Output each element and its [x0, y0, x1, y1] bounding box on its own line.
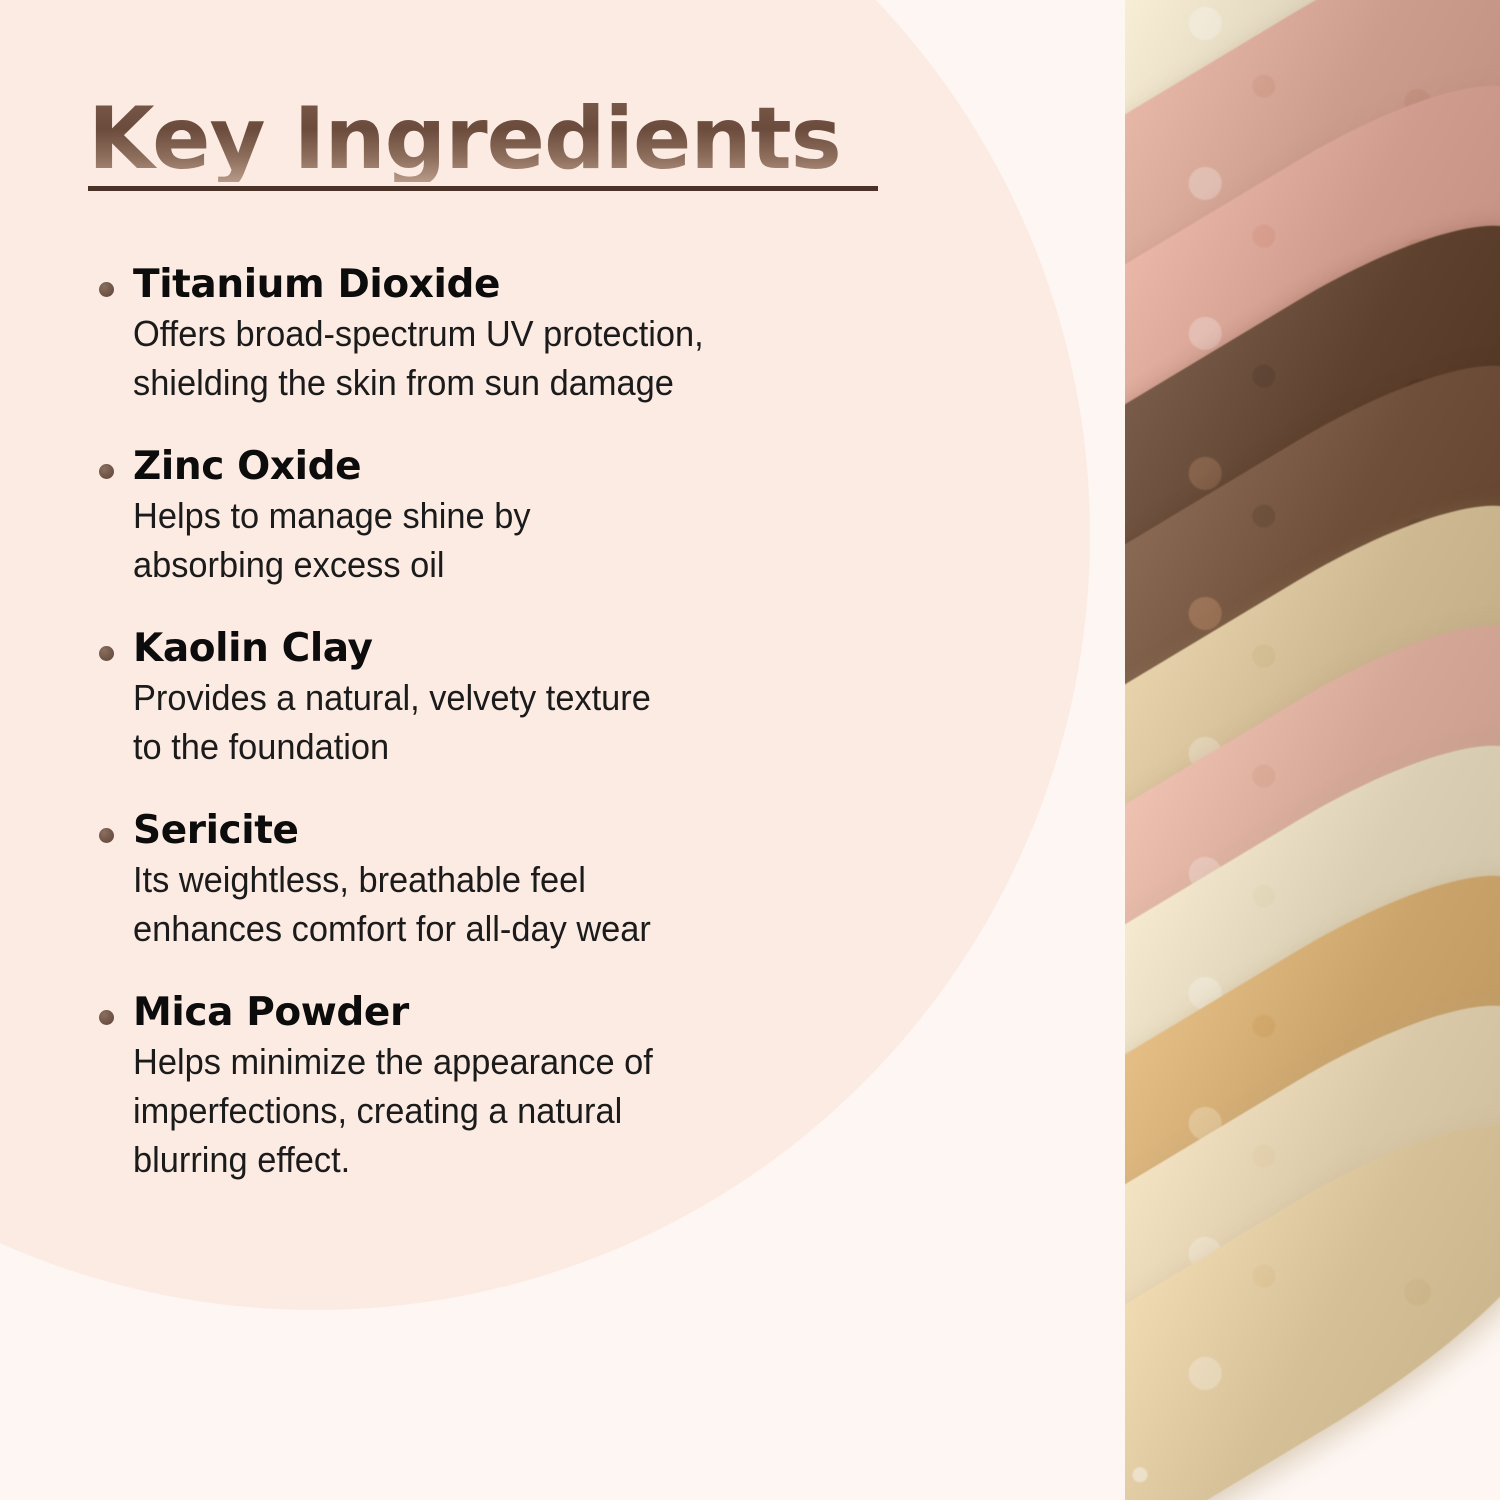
bullet-dot-icon — [99, 464, 114, 479]
ingredient-list: Titanium Dioxide Offers broad-spectrum U… — [88, 262, 968, 1185]
list-item: Zinc Oxide Helps to manage shine by abso… — [88, 444, 968, 590]
bullet-dot-icon — [99, 828, 114, 843]
ingredient-description: Helps minimize the appearance of imperfe… — [133, 1038, 930, 1185]
bullet-dot-icon — [99, 646, 114, 661]
list-item: Kaolin Clay Provides a natural, velvety … — [88, 626, 968, 772]
list-item: Sericite Its weightless, breathable feel… — [88, 808, 968, 954]
bullet-dot-icon — [99, 282, 114, 297]
page-title: Key Ingredients — [88, 96, 841, 182]
ingredient-name: Sericite — [133, 808, 968, 854]
ingredient-description: Offers broad-spectrum UV protection, shi… — [133, 310, 930, 408]
title-underline — [88, 186, 878, 191]
ingredient-name: Mica Powder — [133, 990, 968, 1036]
ingredient-description: Provides a natural, velvety texture to t… — [133, 674, 930, 772]
ingredient-description: Helps to manage shine by absorbing exces… — [133, 492, 930, 590]
ingredient-name: Titanium Dioxide — [133, 262, 968, 308]
ingredient-description: Its weightless, breathable feel enhances… — [133, 856, 930, 954]
ingredient-name: Kaolin Clay — [133, 626, 968, 672]
list-item: Titanium Dioxide Offers broad-spectrum U… — [88, 262, 968, 408]
content-column: Key Ingredients Titanium Dioxide Offers … — [0, 0, 1010, 1500]
list-item: Mica Powder Helps minimize the appearanc… — [88, 990, 968, 1185]
ingredient-name: Zinc Oxide — [133, 444, 968, 490]
powder-swatch-photo — [1125, 0, 1500, 1500]
infographic-page: Key Ingredients Titanium Dioxide Offers … — [0, 0, 1500, 1500]
title-block: Key Ingredients — [88, 96, 841, 182]
bullet-dot-icon — [99, 1010, 114, 1025]
